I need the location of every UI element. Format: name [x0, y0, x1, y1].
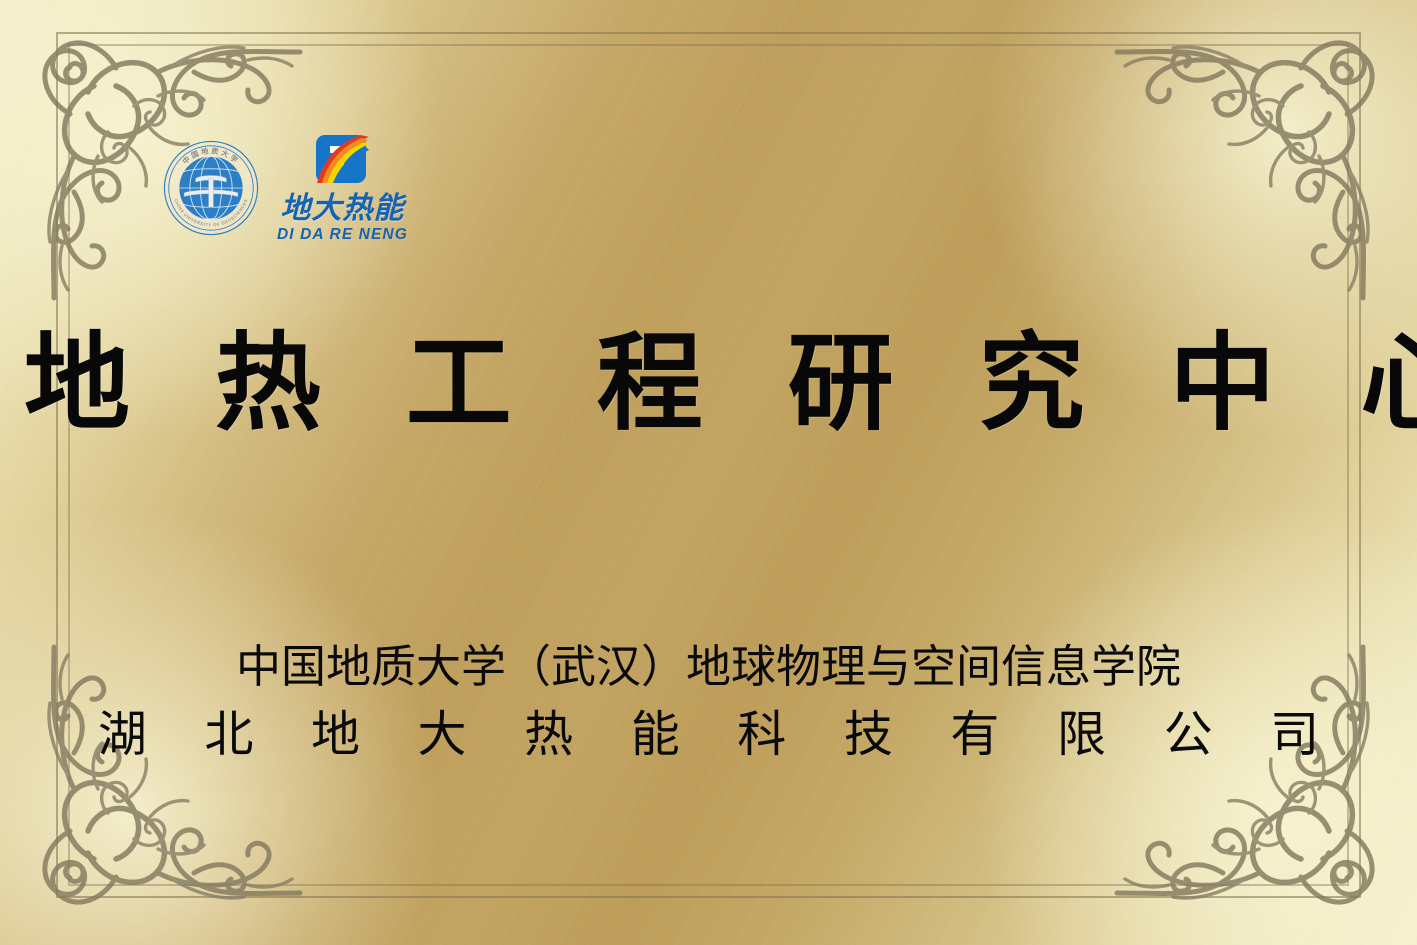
- didareneng-logo: 地大热能 DI DA RE NENG: [277, 133, 408, 243]
- didareneng-label-en: DI DA RE NENG: [277, 226, 408, 243]
- plaque-subtitle-block: 中国地质大学（武汉）地球物理与空间信息学院 湖 北 地 大 热 能 科 技 有 …: [0, 638, 1417, 766]
- subtitle-line-university: 中国地质大学（武汉）地球物理与空间信息学院: [0, 638, 1417, 696]
- didareneng-label-cn: 地大热能: [280, 194, 404, 225]
- didareneng-mark-icon: [311, 133, 373, 193]
- corner-flourish-top-right-icon: [1109, 6, 1409, 306]
- logo-row: 中国地质大学 CHINA UNIVERSITY OF GEOSCIENCES 1…: [163, 133, 408, 243]
- subtitle-line-company: 湖 北 地 大 热 能 科 技 有 限 公 司: [0, 704, 1417, 767]
- cug-year-label: 1952: [207, 216, 217, 221]
- cug-logo: 中国地质大学 CHINA UNIVERSITY OF GEOSCIENCES 1…: [163, 140, 259, 236]
- plaque-main-title: 地 热 工 程 研 究 中 心: [0, 325, 1417, 444]
- plaque-sign: 中国地质大学 CHINA UNIVERSITY OF GEOSCIENCES 1…: [0, 0, 1417, 945]
